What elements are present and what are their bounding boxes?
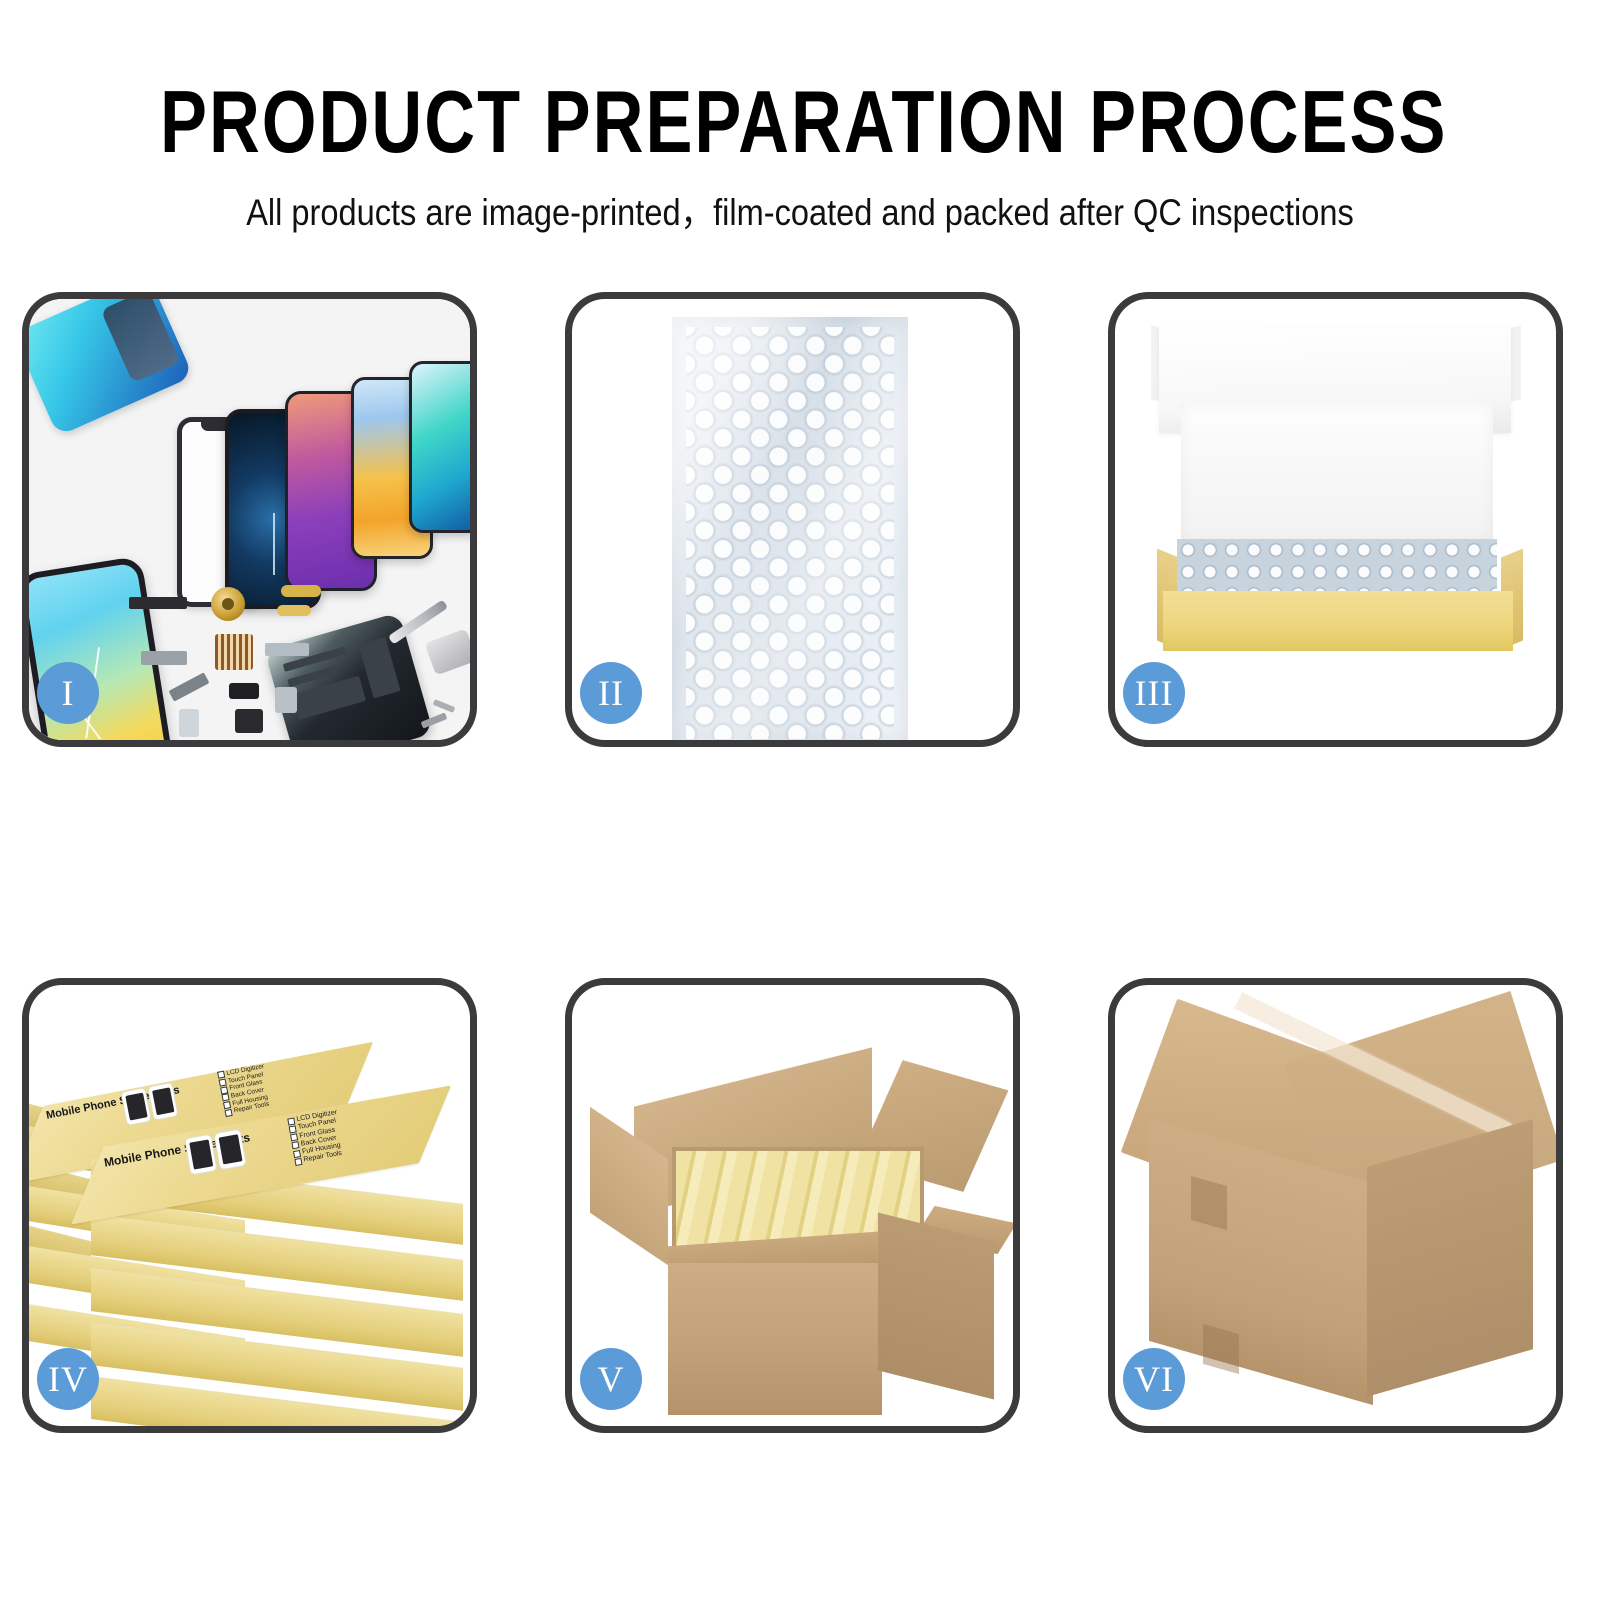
step-panel-4[interactable]: Mobile Phone Spare Parts LCD Digitizer T…: [22, 978, 477, 1433]
step-6-image: [1115, 985, 1556, 1426]
box-tray-front: [1163, 591, 1513, 651]
open-shipping-carton: [572, 985, 1013, 1426]
step-badge-5: V: [580, 1348, 642, 1410]
bubble-wrapped-product: [1177, 539, 1497, 595]
step-5-image: [572, 985, 1013, 1426]
wireless-charging-coil: [211, 587, 245, 621]
step-1-image: [29, 299, 470, 740]
step-numeral: IV: [48, 1361, 88, 1397]
step-numeral: I: [62, 675, 75, 711]
sealed-shipping-carton: [1115, 985, 1556, 1426]
step-badge-2: II: [580, 662, 642, 724]
flex-cable-part: [277, 605, 311, 616]
flex-part: [265, 643, 309, 656]
step-numeral: II: [598, 675, 624, 711]
plastic-sheen: [672, 317, 908, 740]
carton-side-face: [1367, 1119, 1533, 1397]
step-3-image: [1115, 299, 1556, 740]
step-panel-5[interactable]: V: [565, 978, 1020, 1433]
foam-sheet: [1181, 403, 1493, 543]
ic-chip-part: [215, 634, 253, 670]
flex-cable-part: [281, 585, 321, 597]
retail-box-checklist-front: LCD Digitizer Touch Panel Front Glass Ba…: [287, 1109, 345, 1166]
carton-side-face: [878, 1213, 994, 1400]
step-2-image: [572, 299, 1013, 740]
step-panel-1[interactable]: I: [22, 292, 477, 747]
process-steps-grid: I II III: [0, 0, 1600, 1600]
vibrator-part: [275, 687, 297, 713]
step-numeral: III: [1135, 675, 1174, 711]
step-badge-4: IV: [37, 1348, 99, 1410]
bubble-wrap-bag: [672, 317, 908, 740]
step-panel-3[interactable]: III: [1108, 292, 1563, 747]
step-badge-1: I: [37, 662, 99, 724]
step-numeral: V: [598, 1361, 625, 1397]
small-module-part: [229, 683, 259, 699]
connector-part: [129, 597, 187, 609]
step-badge-6: VI: [1123, 1348, 1185, 1410]
sim-tray-part: [179, 709, 199, 737]
step-badge-3: III: [1123, 662, 1185, 724]
step-numeral: VI: [1134, 1361, 1174, 1397]
retail-box-checklist-back: LCD Digitizer Touch Panel Front Glass Ba…: [217, 1063, 272, 1117]
bracket-part: [141, 651, 187, 665]
carton-front-face: [668, 1263, 882, 1415]
step-panel-2[interactable]: II: [565, 292, 1020, 747]
speaker-part: [235, 709, 263, 733]
step-4-image: Mobile Phone Spare Parts LCD Digitizer T…: [29, 985, 470, 1426]
teal-screen-phone: [409, 361, 470, 533]
retail-box-stack: Mobile Phone Spare Parts LCD Digitizer T…: [29, 985, 470, 1426]
step-panel-6[interactable]: VI: [1108, 978, 1563, 1433]
